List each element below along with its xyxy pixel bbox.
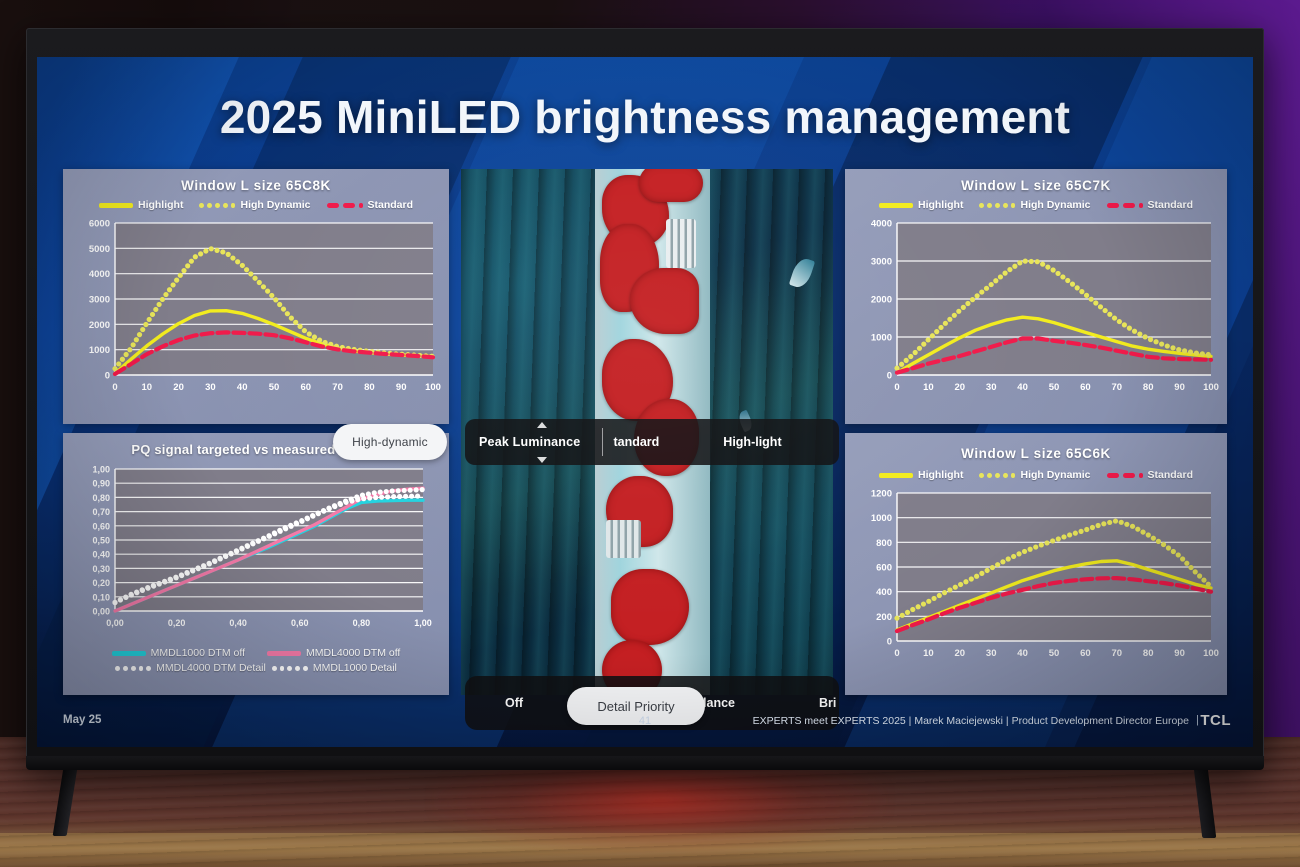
- tv-screen: 2025 MiniLED brightness management Windo…: [37, 57, 1253, 747]
- screen-vignette: [37, 57, 1253, 747]
- tv-bottom-lip: [26, 756, 1264, 770]
